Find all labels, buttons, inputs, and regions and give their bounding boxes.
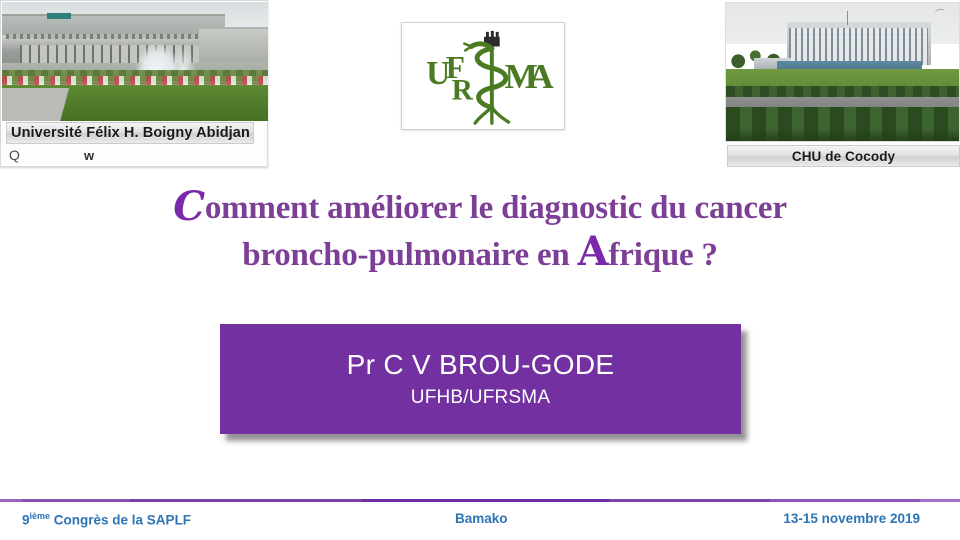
magnifier-glyph-icon: Q xyxy=(9,147,20,163)
left-photo-stray-glyph-row: Q w xyxy=(6,145,254,165)
antenna-mast xyxy=(847,11,848,25)
hedge-row-lower xyxy=(726,107,959,142)
footer-congress-text: Congrès de la SAPLF xyxy=(50,513,191,528)
title-line-1: Comment améliorer le diagnostic du cance… xyxy=(40,186,920,230)
university-building-photo xyxy=(2,2,268,121)
footer-ordinal-suffix: ième xyxy=(30,511,51,521)
footer-divider-segment-0 xyxy=(0,499,22,502)
title-line-1-text: omment améliorer le diagnostic du cancer xyxy=(205,190,787,226)
footer-divider xyxy=(0,499,960,502)
footer-location: Bamako xyxy=(455,511,508,526)
hospital-building xyxy=(787,22,931,65)
footer-divider-segment-6 xyxy=(920,499,960,502)
footer-date: 13-15 novembre 2019 xyxy=(783,511,920,526)
walkway-path xyxy=(2,88,114,121)
stray-w-glyph: w xyxy=(84,148,94,163)
left-photo-caption: Université Félix H. Boigny Abidjan xyxy=(6,122,254,144)
university-building-annex xyxy=(199,27,268,67)
footer-divider-segment-1 xyxy=(22,499,130,502)
footer-divider-segment-4 xyxy=(610,499,770,502)
presenter-affiliation: UFHB/UFRSMA xyxy=(411,387,550,409)
page-title: Comment améliorer le diagnostic du cance… xyxy=(40,186,920,277)
right-photo-caption: CHU de Cocody xyxy=(727,145,960,167)
chu-cocody-photo xyxy=(725,2,960,142)
footer-divider-segment-2 xyxy=(130,499,362,502)
fountain-secondary-icon xyxy=(170,47,197,71)
title-cap-a: A xyxy=(578,228,609,275)
presenter-name: Pr C V BROU-GODE xyxy=(347,349,615,381)
footer-divider-segment-5 xyxy=(770,499,920,502)
title-line-2-prefix: broncho-pulmonaire en xyxy=(242,237,577,273)
title-line-2-text: frique ? xyxy=(608,237,717,273)
presenter-box: Pr C V BROU-GODE UFHB/UFRSMA xyxy=(220,324,741,434)
title-line-2: broncho-pulmonaire en Afrique ? xyxy=(40,230,920,277)
footer-bar: 9ième Congrès de la SAPLF Bamako 13-15 n… xyxy=(0,506,960,536)
footer-divider-segment-3 xyxy=(362,499,610,502)
rooftop-sign xyxy=(47,13,71,19)
ufrsma-caduceus-logo-icon: U F R M A xyxy=(402,23,564,129)
footer-congress-number: 9 xyxy=(22,513,30,528)
title-drop-cap: C xyxy=(173,183,205,230)
left-photo-card: Université Félix H. Boigny Abidjan Q w xyxy=(0,0,268,167)
svg-text:A: A xyxy=(528,57,554,96)
footer-congress-label: 9ième Congrès de la SAPLF xyxy=(22,511,191,528)
ufrsma-logo-card: U F R M A xyxy=(401,22,565,130)
svg-text:R: R xyxy=(452,75,474,107)
